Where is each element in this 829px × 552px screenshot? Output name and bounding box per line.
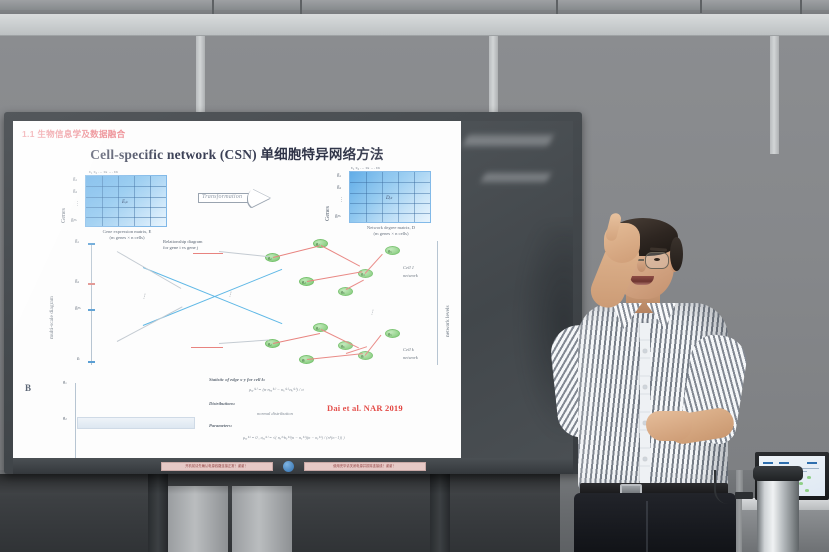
slide-title-cn: 单细胞特异网络方法: [260, 147, 383, 163]
network-diagram: g₁ g₂ gₘ n multi-scale diagram network l…: [13, 229, 461, 379]
network-edge: [117, 251, 182, 289]
network-degree-matrix: Dᵢₖ: [349, 171, 431, 223]
network-axis-tick-label: g₁: [75, 239, 79, 244]
eye: [654, 258, 660, 261]
network-right-axis: [437, 241, 438, 365]
cluster-label-line1: Cell 1: [403, 265, 414, 270]
bezel-sticker: 开机前请先确认电源线路连接正常！谢谢！: [161, 462, 273, 471]
network-edge: [117, 306, 183, 342]
transformation-arrow-label: Transformation: [202, 194, 242, 200]
network-node-label: g₅: [388, 248, 392, 253]
right-matrix-cell-label: Dᵢₖ: [386, 195, 393, 201]
network-edge: [273, 245, 320, 258]
network-edge: [193, 253, 223, 254]
ceiling-soffit: [0, 14, 829, 36]
transformation-arrow: Transformation: [198, 187, 272, 209]
network-node-label: g₄: [302, 279, 306, 284]
wall-panel-divider: [770, 36, 779, 154]
network-node-label: g₁: [316, 325, 320, 330]
network-node-label: g₆: [341, 289, 345, 294]
right-matrix-row-label: g₂: [337, 185, 341, 190]
ceiling-rod: [800, 0, 802, 15]
network-node-label: g₅: [388, 331, 392, 336]
left-matrix-y-label: Genes: [61, 208, 67, 223]
axis-tick: [88, 309, 95, 311]
gene-expression-matrix: Eᵢₖ: [85, 175, 167, 227]
network-edge: [191, 347, 223, 348]
ellipsis: ⋮: [369, 309, 375, 316]
axis-tick: [88, 283, 95, 285]
ellipsis: ⋮: [141, 293, 147, 300]
histogram-tick-label: g₁: [63, 379, 67, 384]
trouser-crease: [646, 501, 648, 552]
histogram-axis: [75, 383, 76, 458]
shirt-button: [643, 385, 647, 389]
equation-body: normal distribution: [257, 411, 293, 416]
screen-reflection: [463, 135, 553, 146]
network-axis-tick-label: g₂: [75, 279, 79, 284]
network-edge: [219, 251, 269, 257]
nose: [637, 259, 646, 272]
bezel-sticker: 使用完毕请关闭电源并拔除连接线！谢谢！: [304, 462, 426, 471]
network-y-axis-label: multi-scale diagram: [49, 296, 55, 339]
trousers: [574, 493, 736, 552]
slide-title-en: Cell-specific network (CSN): [90, 147, 257, 162]
axis-tick: [88, 361, 95, 363]
equation-body: μₓᵧ⁽ᵏ⁾ = 0 , σₓᵧ⁽ᵏ⁾ = √( nₓ⁽ᵏ⁾nᵧ⁽ᵏ⁾(n − …: [243, 435, 345, 440]
network-edge: [365, 335, 382, 356]
network-node-label: g₆: [341, 343, 345, 348]
cabinet-shadow: [0, 474, 560, 494]
display-bezel-bottom: 开机前请先确认电源线路连接正常！谢谢！ 使用完毕请关闭电源并拔除连接线！谢谢！: [13, 458, 573, 474]
network-node-label: gⱼ: [302, 357, 305, 362]
right-matrix-row-label: ⋮: [339, 197, 344, 203]
slide-citation: Dai et al. NAR 2019: [327, 403, 403, 413]
equation-label: Parameters:: [209, 423, 232, 428]
interactive-whiteboard[interactable]: 1.1 生物信息学及数据融合 Cell-specific network (CS…: [4, 112, 582, 474]
cabinet-panel: [168, 486, 228, 552]
screen-reflection: [481, 173, 551, 182]
lecture-room-scene: 1.1 生物信息学及数据融合 Cell-specific network (CS…: [0, 0, 829, 552]
ceiling-rod: [300, 0, 302, 14]
slide-content: 1.1 生物信息学及数据融合 Cell-specific network (CS…: [13, 121, 461, 458]
equation-label: Statistic of edge x-y for cell k:: [209, 377, 265, 382]
network-axis-tick-label: n: [77, 357, 80, 362]
cluster-label-line2: network: [403, 355, 418, 360]
network-edge: [219, 340, 269, 344]
equation-label: Distributions:: [209, 401, 235, 406]
ceiling-rod: [700, 0, 702, 13]
shirt-button: [643, 349, 647, 353]
cabinet-panel: [232, 486, 292, 552]
left-matrix-row-label: ⋮: [75, 201, 80, 207]
network-edge: [273, 333, 320, 344]
cupped-hand: [646, 411, 692, 441]
network-edge: [307, 271, 362, 282]
ellipsis: ⋮: [227, 291, 233, 298]
histogram-tick-label: g₂: [63, 415, 67, 420]
axis-tick: [88, 243, 95, 245]
hair-side: [670, 237, 683, 271]
manufacturer-logo-icon: [283, 461, 294, 472]
cluster-label-line2: network: [403, 273, 418, 278]
shirt-button: [643, 457, 647, 461]
thermos-lid: [753, 466, 803, 481]
cluster-label-line1: Cell k: [403, 347, 414, 352]
slide-title: Cell-specific network (CSN) 单细胞特异网络方法: [13, 143, 461, 163]
network-axis-tick-label: gₘ: [75, 305, 81, 311]
thermos: [757, 470, 799, 552]
network-edge: [346, 280, 364, 290]
power-cable: [714, 470, 740, 504]
panel-b-letter: B: [25, 383, 31, 393]
left-matrix-cell-label: Eᵢₖ: [122, 199, 128, 205]
histogram-bar: [77, 417, 195, 429]
network-right-axis-label: network levels: [445, 305, 451, 337]
equation-body: ρₓᵧ⁽ᵏ⁾ = (n·nₓᵧ⁽ᵏ⁾ − nₓ⁽ᵏ⁾·nᵧ⁽ᵏ⁾) / σ: [249, 387, 304, 393]
network-edge: [307, 353, 363, 360]
network-node-label: g₂: [268, 341, 272, 346]
display-screen[interactable]: 1.1 生物信息学及数据融合 Cell-specific network (CS…: [13, 121, 573, 458]
network-edge: [321, 245, 360, 267]
left-matrix-row-label: g₂: [73, 189, 77, 194]
right-matrix-row-label: gₘ: [335, 213, 341, 219]
left-matrix-row-label: g₁: [73, 177, 77, 182]
slide-section-header: 1.1 生物信息学及数据融合: [22, 128, 125, 140]
left-matrix-row-label: gₘ: [71, 217, 77, 223]
network-y-axis: [91, 243, 92, 365]
network-edge: [365, 254, 383, 274]
ceiling-rail: [0, 0, 829, 10]
right-matrix-y-label: Genes: [325, 206, 331, 221]
right-matrix-row-label: g₁: [337, 173, 341, 178]
